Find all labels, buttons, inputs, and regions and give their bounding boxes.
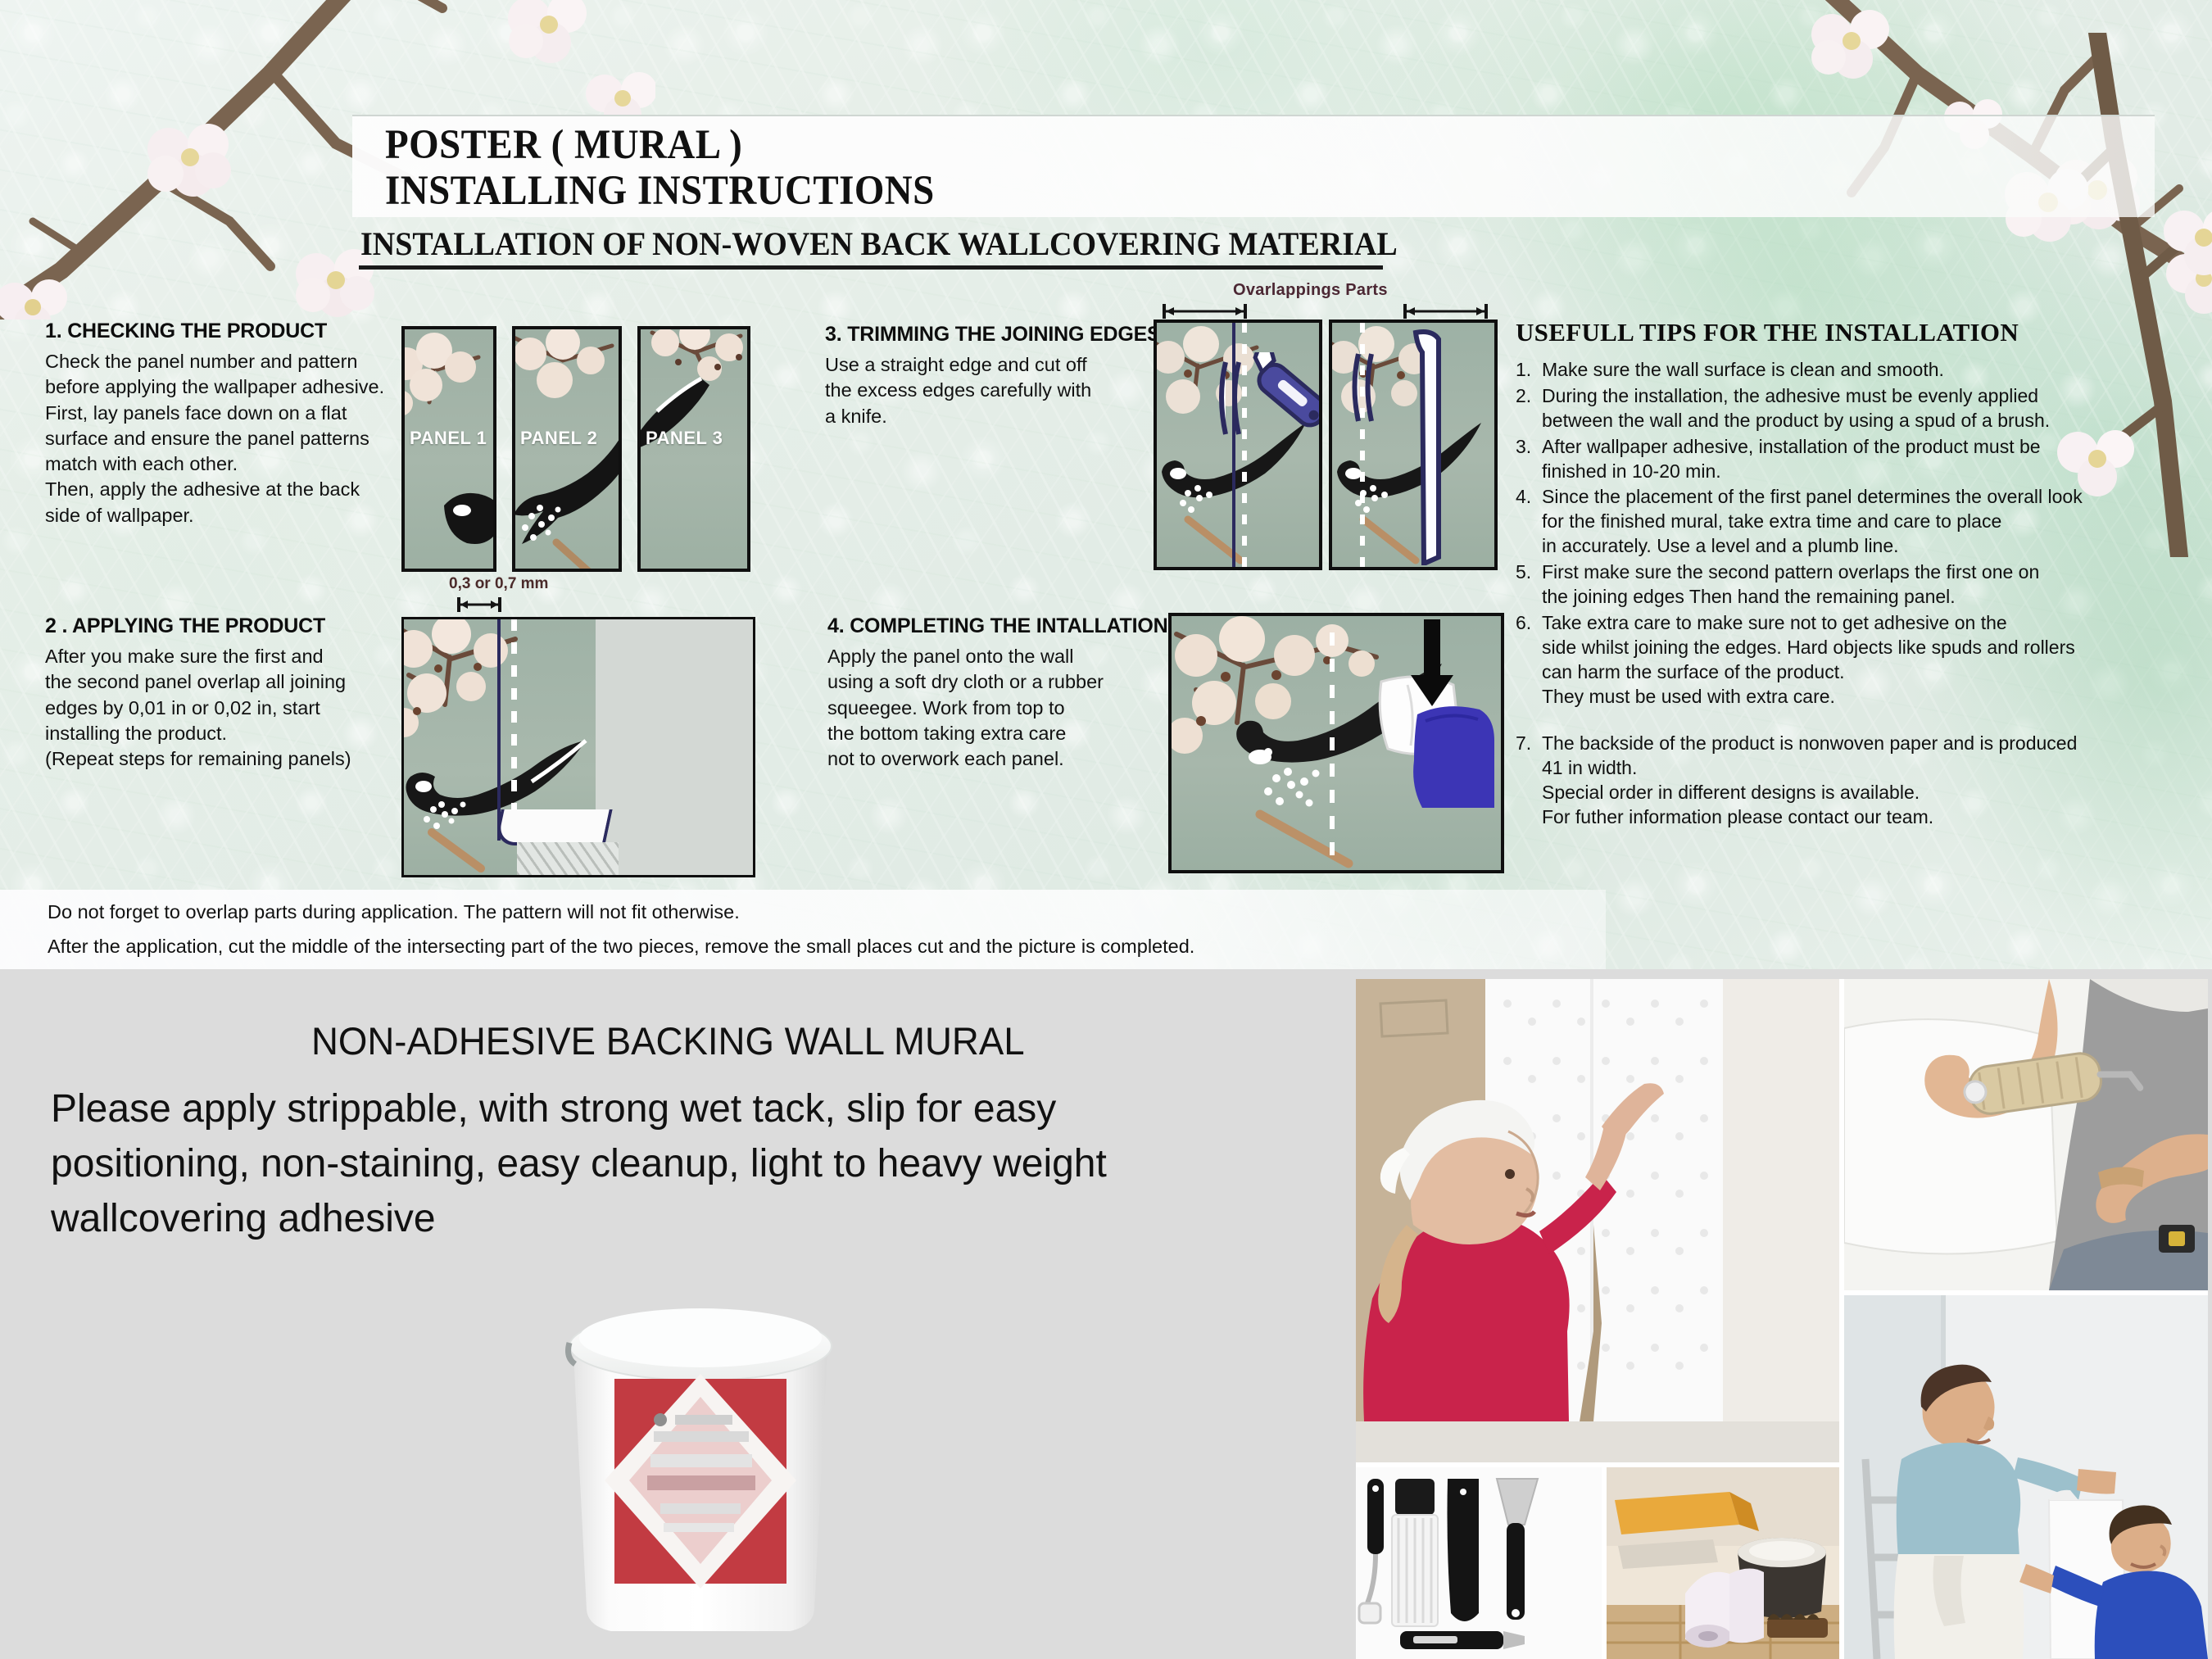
bottom-paragraph-line-1: Please apply strippable, with strong wet… <box>51 1081 1329 1136</box>
subtitle-row: INSTALLATION OF NON-WOVEN BACK WALLCOVER… <box>352 224 1376 274</box>
step-1-line-7: side of wallpaper. <box>45 503 430 528</box>
instruction-sheet: POSTER ( MURAL ) INSTALLING INSTRUCTIONS… <box>0 0 2212 969</box>
tip-line: in accurately. Use a level and a plumb l… <box>1542 534 2083 559</box>
overlap-arrow-left-icon <box>1162 303 1249 320</box>
instruction-poster: POSTER ( MURAL ) INSTALLING INSTRUCTIONS… <box>0 0 2212 1659</box>
tip-number: 4. <box>1516 485 1542 559</box>
tips-heading: USEFULL TIPS FOR THE INSTALLATION <box>1516 318 2163 347</box>
tip-line: the joining edges Then hand the remainin… <box>1542 585 2039 610</box>
photo-woman-applying-paper-image <box>1356 979 1839 1462</box>
panel-strip-2: PANEL 2 <box>512 326 622 572</box>
photo-tool-set-image <box>1356 1467 1602 1659</box>
metal-ruler-icon <box>1403 328 1452 565</box>
photo-applying-paste-roller <box>1844 979 2208 1290</box>
footer-note-2: After the application, cut the middle of… <box>48 936 1194 958</box>
overlap-edge-line <box>497 619 501 841</box>
step-3-trimming-the-joining-edges: 3. TRIMMING THE JOINING EDGES Use a stra… <box>825 323 1169 429</box>
tip-text: First make sure the second pattern overl… <box>1542 560 2039 610</box>
photo-applying-paste-roller-image <box>1844 979 2208 1290</box>
bird-panel-knife <box>1154 320 1322 570</box>
step-1-checking-the-product: 1. CHECKING THE PRODUCT Check the panel … <box>45 320 430 528</box>
tip-line: After wallpaper adhesive, installation o… <box>1542 435 2041 460</box>
diagram-completing-installation <box>1168 613 1504 873</box>
step-2-heading: 2 . APPLYING THE PRODUCT <box>45 614 430 638</box>
step-2-applying-the-product: 2 . APPLYING THE PRODUCT After you make … <box>45 614 430 772</box>
tip-number: 3. <box>1516 435 1542 484</box>
photo-brushes-and-paste-image <box>1607 1467 1839 1659</box>
step-1-line-1: Check the panel number and pattern <box>45 349 430 374</box>
cut-line-dashes <box>511 619 517 839</box>
step-3-heading: 3. TRIMMING THE JOINING EDGES <box>825 323 1169 347</box>
panel-label-3: PANEL 3 <box>646 428 723 449</box>
footer-note-1: Do not forget to overlap parts during ap… <box>48 901 740 923</box>
bottom-paragraph-line-3: wallcovering adhesive <box>51 1191 1329 1246</box>
step-3-body: Use a straight edge and cut off the exce… <box>825 352 1169 429</box>
step-4-line-5: not to overwork each panel. <box>827 746 1172 772</box>
smoothing-brush-icon <box>1392 1479 1438 1626</box>
step-4-line-2: using a soft dry cloth or a rubber <box>827 669 1172 695</box>
step-2-line-5: (Repeat steps for remaining panels) <box>45 746 430 772</box>
title-band: POSTER ( MURAL ) INSTALLING INSTRUCTIONS <box>352 115 2155 217</box>
adhesive-bucket-image <box>541 1282 860 1634</box>
tip-line: between the wall and the product by usin… <box>1542 409 2050 433</box>
panel-strip-3: PANEL 3 <box>637 326 750 572</box>
tip-item: 7. The backside of the product is nonwov… <box>1516 732 2163 830</box>
subtitle-underline <box>359 265 1383 270</box>
dimension-arrow-icon <box>456 596 503 614</box>
tip-line: 41 in width. <box>1542 756 2077 781</box>
panel-strip-1: PANEL 1 <box>401 326 496 572</box>
step-1-line-3: First, lay panels face down on a flat <box>45 401 430 426</box>
step-1-line-6: Then, apply the adhesive at the back <box>45 477 430 502</box>
snap-off-knife-icon <box>1400 1631 1525 1649</box>
step-3-line-1: Use a straight edge and cut off <box>825 352 1169 378</box>
photo-woman-applying-paper <box>1356 979 1839 1462</box>
step-1-heading: 1. CHECKING THE PRODUCT <box>45 320 430 343</box>
tip-line: Since the placement of the first panel d… <box>1542 485 2083 510</box>
page-title: POSTER ( MURAL ) <box>385 121 742 169</box>
diagram-trimming <box>1154 320 1498 573</box>
tip-line: Make sure the wall surface is clean and … <box>1542 358 1944 383</box>
bottom-paragraph-line-2: positioning, non-staining, easy cleanup,… <box>51 1136 1329 1191</box>
overlap-arrow-right-icon <box>1403 303 1489 320</box>
overlap-dimension-label: 0,3 or 0,7 mm <box>449 575 548 593</box>
bird-head-art-icon <box>437 473 496 571</box>
bottom-heading: NON-ADHESIVE BACKING WALL MURAL <box>311 1018 1025 1063</box>
photo-two-men-hanging-wallpaper-image <box>1844 1295 2208 1659</box>
tip-line: finished in 10-20 min. <box>1542 460 2041 484</box>
tip-line: Take extra care to make sure not to get … <box>1542 611 2075 636</box>
tip-text: Take extra care to make sure not to get … <box>1542 611 2075 709</box>
tip-text: Since the placement of the first panel d… <box>1542 485 2083 559</box>
tip-line: side whilst joining the edges. Hard obje… <box>1542 636 2075 660</box>
tip-text: During the installation, the adhesive mu… <box>1542 384 2050 433</box>
step-3-line-2: the excess edges carefully with <box>825 378 1169 403</box>
bird-panel-straight-edge <box>1329 320 1498 570</box>
step-2-line-3: edges by 0,01 in or 0,02 in, start <box>45 696 430 721</box>
panel-label-2: PANEL 2 <box>520 428 597 449</box>
photo-collage <box>1356 979 2208 1659</box>
step-1-line-2: before applying the wallpaper adhesive. <box>45 374 430 400</box>
step-2-body: After you make sure the first and the se… <box>45 644 430 772</box>
photo-brushes-and-paste <box>1607 1467 1839 1659</box>
tip-number: 7. <box>1516 732 1542 830</box>
step-2-line-1: After you make sure the first and <box>45 644 430 669</box>
overlapping-parts-label: Ovarlappings Parts <box>1233 281 1388 300</box>
tip-item: 2. During the installation, the adhesive… <box>1516 384 2163 433</box>
diagram-three-panels: PANEL 1 PANEL 2 <box>401 326 754 572</box>
tip-item: 1. Make sure the wall surface is clean a… <box>1516 358 2163 383</box>
tip-line: The backside of the product is nonwoven … <box>1542 732 2077 756</box>
tip-number: 5. <box>1516 560 1542 610</box>
tip-line: During the installation, the adhesive mu… <box>1542 384 2050 409</box>
step-4-line-3: squeegee. Work from top to <box>827 696 1172 721</box>
step-1-line-4: surface and ensure the panel patterns <box>45 426 430 451</box>
hatched-overlap-area <box>517 842 619 875</box>
diagram-overlap-joining <box>401 617 755 877</box>
step-1-body: Check the panel number and pattern befor… <box>45 349 430 528</box>
tip-text: Make sure the wall surface is clean and … <box>1542 358 1944 383</box>
tip-item: 6. Take extra care to make sure not to g… <box>1516 611 2163 709</box>
step-4-line-1: Apply the panel onto the wall <box>827 644 1172 669</box>
step-1-line-5: match with each other. <box>45 451 430 477</box>
tip-text: After wallpaper adhesive, installation o… <box>1542 435 2041 484</box>
tip-number: 2. <box>1516 384 1542 433</box>
tip-line: can harm the surface of the product. <box>1542 660 2075 685</box>
photo-two-men-hanging-wallpaper <box>1844 1295 2208 1659</box>
down-arrow-icon <box>1407 619 1457 709</box>
tip-number: 1. <box>1516 358 1542 383</box>
tip-item: 3. After wallpaper adhesive, installatio… <box>1516 435 2163 484</box>
tip-line: They must be used with extra care. <box>1542 685 2075 709</box>
step-4-completing-the-installation: 4. COMPLETING THE INTALLATION Apply the … <box>827 614 1172 772</box>
tip-item: 4. Since the placement of the first pane… <box>1516 485 2163 559</box>
step-4-body: Apply the panel onto the wall using a so… <box>827 644 1172 772</box>
page-subtitle-main: INSTALLING INSTRUCTIONS <box>385 167 935 215</box>
photo-tool-set <box>1356 1467 1602 1659</box>
panel-label-1: PANEL 1 <box>410 428 487 449</box>
step-4-line-4: the bottom taking extra care <box>827 721 1172 746</box>
step-2-line-4: installing the product. <box>45 721 430 746</box>
tip-number: 6. <box>1516 611 1542 709</box>
step-3-line-3: a knife. <box>825 404 1169 429</box>
diagram-2-blank-area <box>596 619 753 875</box>
plastic-smoother-icon <box>1448 1479 1480 1621</box>
step-4-heading: 4. COMPLETING THE INTALLATION <box>827 614 1172 638</box>
paper-curl-shape <box>493 809 612 845</box>
tip-line: for the finished mural, take extra time … <box>1542 510 2083 534</box>
tip-line: For futher information please contact ou… <box>1542 805 2077 830</box>
tip-line: First make sure the second pattern overl… <box>1542 560 2039 585</box>
straight-edge-icon <box>1349 351 1385 424</box>
blossom-art-icon <box>401 326 496 472</box>
tips-spacer <box>1516 710 2163 732</box>
useful-tips-section: USEFULL TIPS FOR THE INSTALLATION 1. Mak… <box>1516 318 2163 832</box>
tip-text: The backside of the product is nonwoven … <box>1542 732 2077 830</box>
utility-knife-icon <box>1235 352 1322 451</box>
bird-tail-art-icon <box>637 369 718 467</box>
bottom-paragraph: Please apply strippable, with strong wet… <box>51 1081 1329 1247</box>
step-2-line-2: the second panel overlap all joining <box>45 669 430 695</box>
tip-line: Special order in different designs is av… <box>1542 781 2077 805</box>
tip-item: 5. First make sure the second pattern ov… <box>1516 560 2163 610</box>
subtitle-text: INSTALLATION OF NON-WOVEN BACK WALLCOVER… <box>360 224 1398 263</box>
